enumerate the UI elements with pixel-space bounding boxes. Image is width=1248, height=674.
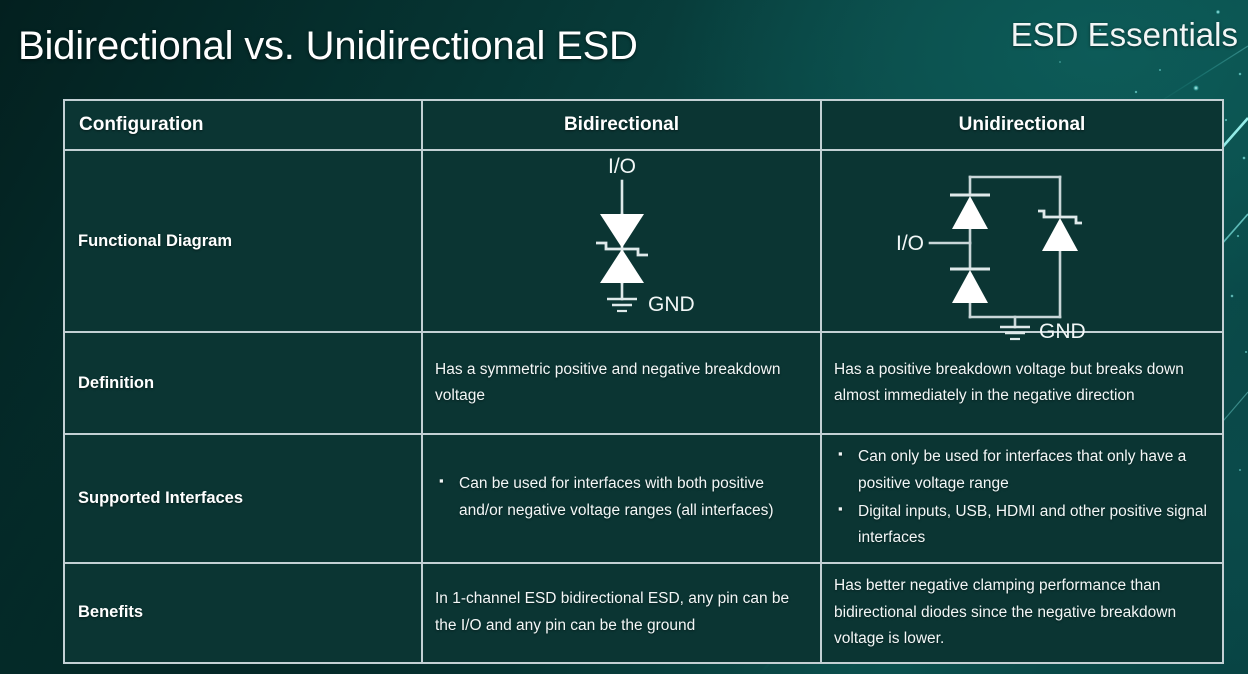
page-title: Bidirectional vs. Unidirectional ESD bbox=[18, 24, 638, 69]
row-label-definition: Definition bbox=[64, 332, 422, 434]
cell-interfaces-bidirectional: Can be used for interfaces with both pos… bbox=[422, 434, 821, 563]
gnd-label: GND bbox=[648, 293, 695, 316]
cell-definition-bidirectional: Has a symmetric positive and negative br… bbox=[422, 332, 821, 434]
column-header-unidirectional: Unidirectional bbox=[821, 100, 1223, 150]
slide-canvas: Bidirectional vs. Unidirectional ESD ESD… bbox=[0, 0, 1248, 674]
list-item: Can be used for interfaces with both pos… bbox=[435, 471, 808, 524]
row-label-functional-diagram: Functional Diagram bbox=[64, 150, 422, 332]
cell-unidirectional-diagram: I/O GND bbox=[821, 150, 1223, 332]
column-header-bidirectional: Bidirectional bbox=[422, 100, 821, 150]
row-label-benefits: Benefits bbox=[64, 563, 422, 663]
table-row: Functional Diagram bbox=[64, 150, 1223, 332]
table-header-row: Configuration Bidirectional Unidirection… bbox=[64, 100, 1223, 150]
cell-definition-unidirectional: Has a positive breakdown voltage but bre… bbox=[821, 332, 1223, 434]
diode-triangle-lower bbox=[952, 270, 988, 303]
list-item: Digital inputs, USB, HDMI and other posi… bbox=[834, 499, 1210, 552]
table-row: Definition Has a symmetric positive and … bbox=[64, 332, 1223, 434]
comparison-table-container: Configuration Bidirectional Unidirection… bbox=[63, 99, 1222, 664]
bullet-list: Can be used for interfaces with both pos… bbox=[435, 471, 808, 524]
bidirectional-tvs-diode-schematic: I/O GND bbox=[517, 151, 727, 331]
bullet-list: Can only be used for interfaces that onl… bbox=[834, 444, 1210, 552]
brand-label: ESD Essentials bbox=[1011, 16, 1238, 54]
table-row: Supported Interfaces Can be used for int… bbox=[64, 434, 1223, 563]
io-label: I/O bbox=[896, 232, 924, 255]
table-row: Benefits In 1-channel ESD bidirectional … bbox=[64, 563, 1223, 663]
ground-symbol bbox=[607, 299, 637, 311]
gnd-label: GND bbox=[1039, 320, 1086, 343]
unidirectional-esd-diode-schematic: I/O GND bbox=[882, 151, 1162, 331]
cell-benefits-unidirectional: Has better negative clamping performance… bbox=[821, 563, 1223, 663]
row-label-supported-interfaces: Supported Interfaces bbox=[64, 434, 422, 563]
cell-bidirectional-diagram: I/O GND bbox=[422, 150, 821, 332]
table-body: Functional Diagram bbox=[64, 150, 1223, 663]
column-header-configuration: Configuration bbox=[64, 100, 422, 150]
zener-triangle bbox=[1042, 218, 1078, 251]
cell-interfaces-unidirectional: Can only be used for interfaces that onl… bbox=[821, 434, 1223, 563]
cell-benefits-bidirectional: In 1-channel ESD bidirectional ESD, any … bbox=[422, 563, 821, 663]
diode-triangle-upper bbox=[952, 196, 988, 229]
list-item: Can only be used for interfaces that onl… bbox=[834, 444, 1210, 497]
comparison-table: Configuration Bidirectional Unidirection… bbox=[63, 99, 1224, 664]
io-label: I/O bbox=[607, 155, 635, 178]
table-header: Configuration Bidirectional Unidirection… bbox=[64, 100, 1223, 150]
